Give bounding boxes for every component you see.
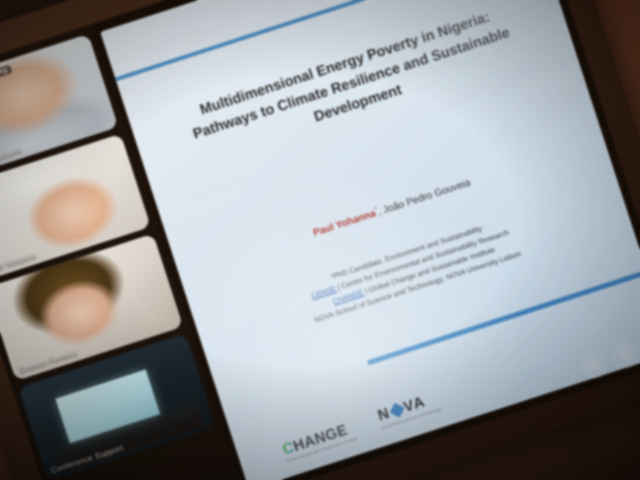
affiliation-line-3: CHANGE | Global Change and Sustainable I… [234,212,594,339]
tablet-display: Paul Yohanna Presenting Frederica Marque… [0,0,640,480]
nova-diamond-icon [390,403,405,418]
tablet-device: Paul Yohanna Presenting Frederica Marque… [0,0,640,480]
photo-scene: Paul Yohanna Presenting Frederica Marque… [0,0,640,480]
nova-logo-initial: N [376,405,393,425]
slide-affiliations: *PhD Candidate, Environment and Sustaina… [226,189,597,350]
tablet-bezel: Paul Yohanna Presenting Frederica Marque… [0,0,640,480]
video-conference-app: Paul Yohanna Presenting Frederica Marque… [0,0,640,480]
nova-logo: NVA NOVA School of Science and Technolog… [376,389,442,431]
change-logo: CHANGE Global Change and Sustainability … [280,419,358,463]
author-lead-name: Paul Yohanna [312,208,377,239]
author-co-authors: , João Pedro Gouveia [376,177,471,217]
slide-title: Multidimensional Energy Poverty in Niger… [164,0,539,171]
